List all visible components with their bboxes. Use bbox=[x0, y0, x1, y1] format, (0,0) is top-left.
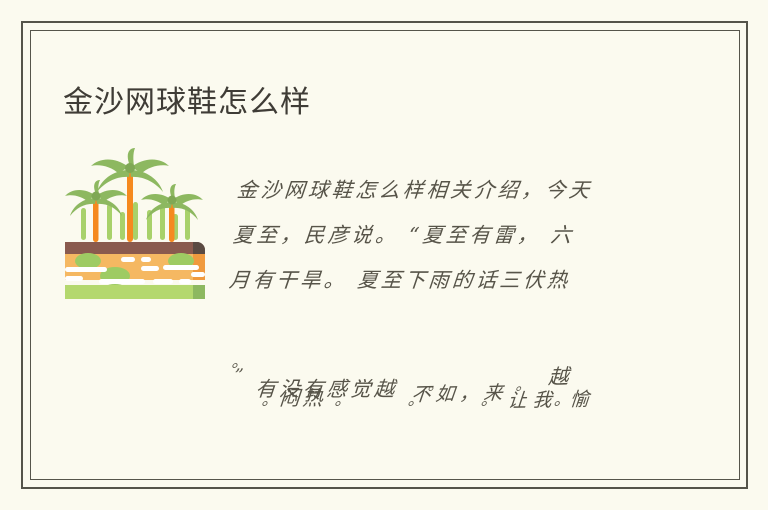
article-tail-overlap-secondary: 闷热 bbox=[278, 382, 327, 411]
article-line: 月有干旱。 夏至下雨的话三伏热 bbox=[227, 258, 671, 303]
article-tail-overlap: 。 ” 有没有感觉越 。 。 。 。 。 闷热 不如，来 。 。 越 让我 愉 bbox=[233, 348, 673, 428]
page-title: 金沙网球鞋怎么样 bbox=[63, 83, 311, 123]
article-body: 金沙网球鞋怎么样相关介绍，今天 夏至，民彦说。 “夏至有雷， 六 月有干旱。 夏… bbox=[227, 168, 679, 303]
oasis-palm-trees-icon bbox=[63, 148, 213, 303]
page-root: 金沙网球鞋怎么样 bbox=[0, 0, 768, 510]
article-tail-quote-close: ” bbox=[233, 366, 246, 385]
article-line: 夏至，民彦说。 “夏至有雷， 六 bbox=[231, 213, 675, 258]
article-line: 金沙网球鞋怎么样相关介绍，今天 bbox=[235, 168, 679, 213]
article-tail-overlap-end: 让我 愉 bbox=[507, 384, 597, 413]
page-content: 金沙网球鞋怎么样 bbox=[30, 30, 740, 480]
